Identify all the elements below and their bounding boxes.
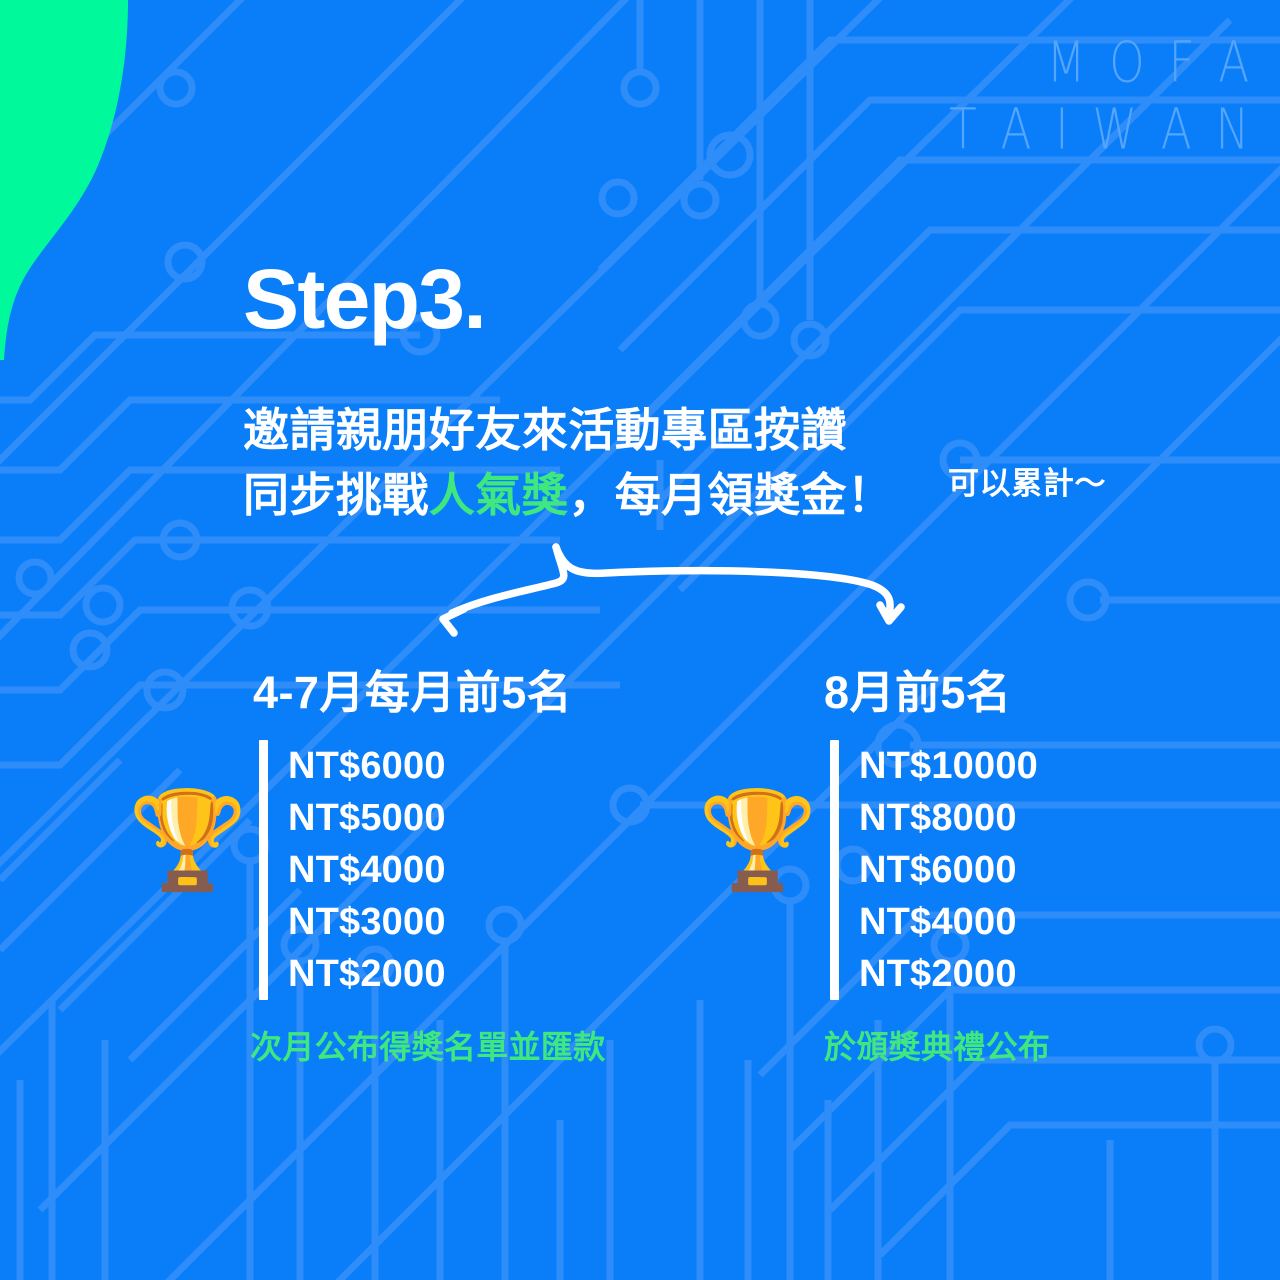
prize-item: NT$10000 <box>859 740 1038 792</box>
trophy-icon: 🏆 <box>698 793 818 889</box>
logo-line-mofa: M O F A <box>949 34 1254 90</box>
prize-item: NT$2000 <box>859 948 1038 1000</box>
subhead-text: 邀請親朋好友來活動專區按讚 同步挑戰人氣獎，每月領獎金！ <box>243 398 893 529</box>
subhead-line-2-post: ，每月領獎金！ <box>568 469 893 521</box>
prize-item: NT$8000 <box>859 792 1038 844</box>
popularity-award-highlight: 人氣獎 <box>429 469 568 521</box>
prize-group-monthly: NT$6000 NT$5000 NT$4000 NT$3000 NT$2000 <box>259 740 446 1000</box>
prize-bar <box>830 740 839 1000</box>
prize-bar <box>259 740 268 1000</box>
prize-item: NT$6000 <box>859 844 1038 896</box>
caption-monthly: 次月公布得獎名單並匯款 <box>250 1022 606 1068</box>
trophy-icon: 🏆 <box>128 793 248 889</box>
prize-item: NT$4000 <box>859 896 1038 948</box>
prize-list-august: NT$10000 NT$8000 NT$6000 NT$4000 NT$2000 <box>839 740 1038 1000</box>
prize-list-monthly: NT$6000 NT$5000 NT$4000 NT$3000 NT$2000 <box>268 740 446 1000</box>
circuit-board-background <box>0 0 1280 1280</box>
subhead-line-1: 邀請親朋好友來活動專區按讚 <box>243 398 893 463</box>
subhead-line-2: 同步挑戰人氣獎，每月領獎金！ <box>243 463 893 528</box>
prize-item: NT$5000 <box>288 792 446 844</box>
prize-item: NT$6000 <box>288 740 446 792</box>
mofa-taiwan-logo: M O F A T A I W A N <box>949 34 1254 146</box>
prize-item: NT$2000 <box>288 948 446 1000</box>
prize-item: NT$3000 <box>288 896 446 948</box>
column-heading-monthly: 4-7月每月前5名 <box>253 656 572 721</box>
step-title: Step3. <box>243 257 485 341</box>
column-heading-august: 8月前5名 <box>824 656 1011 721</box>
caption-august: 於頒獎典禮公布 <box>824 1022 1050 1068</box>
prize-group-august: NT$10000 NT$8000 NT$6000 NT$4000 NT$2000 <box>830 740 1038 1000</box>
poster-canvas: M O F A T A I W A N Step3. 邀請親朋好友來活動專區按讚… <box>0 0 1280 1280</box>
logo-line-taiwan: T A I W A N <box>949 101 1254 157</box>
prize-item: NT$4000 <box>288 844 446 896</box>
subhead-line-2-pre: 同步挑戰 <box>243 469 429 521</box>
cumulative-note: 可以累計～ <box>948 458 1106 503</box>
